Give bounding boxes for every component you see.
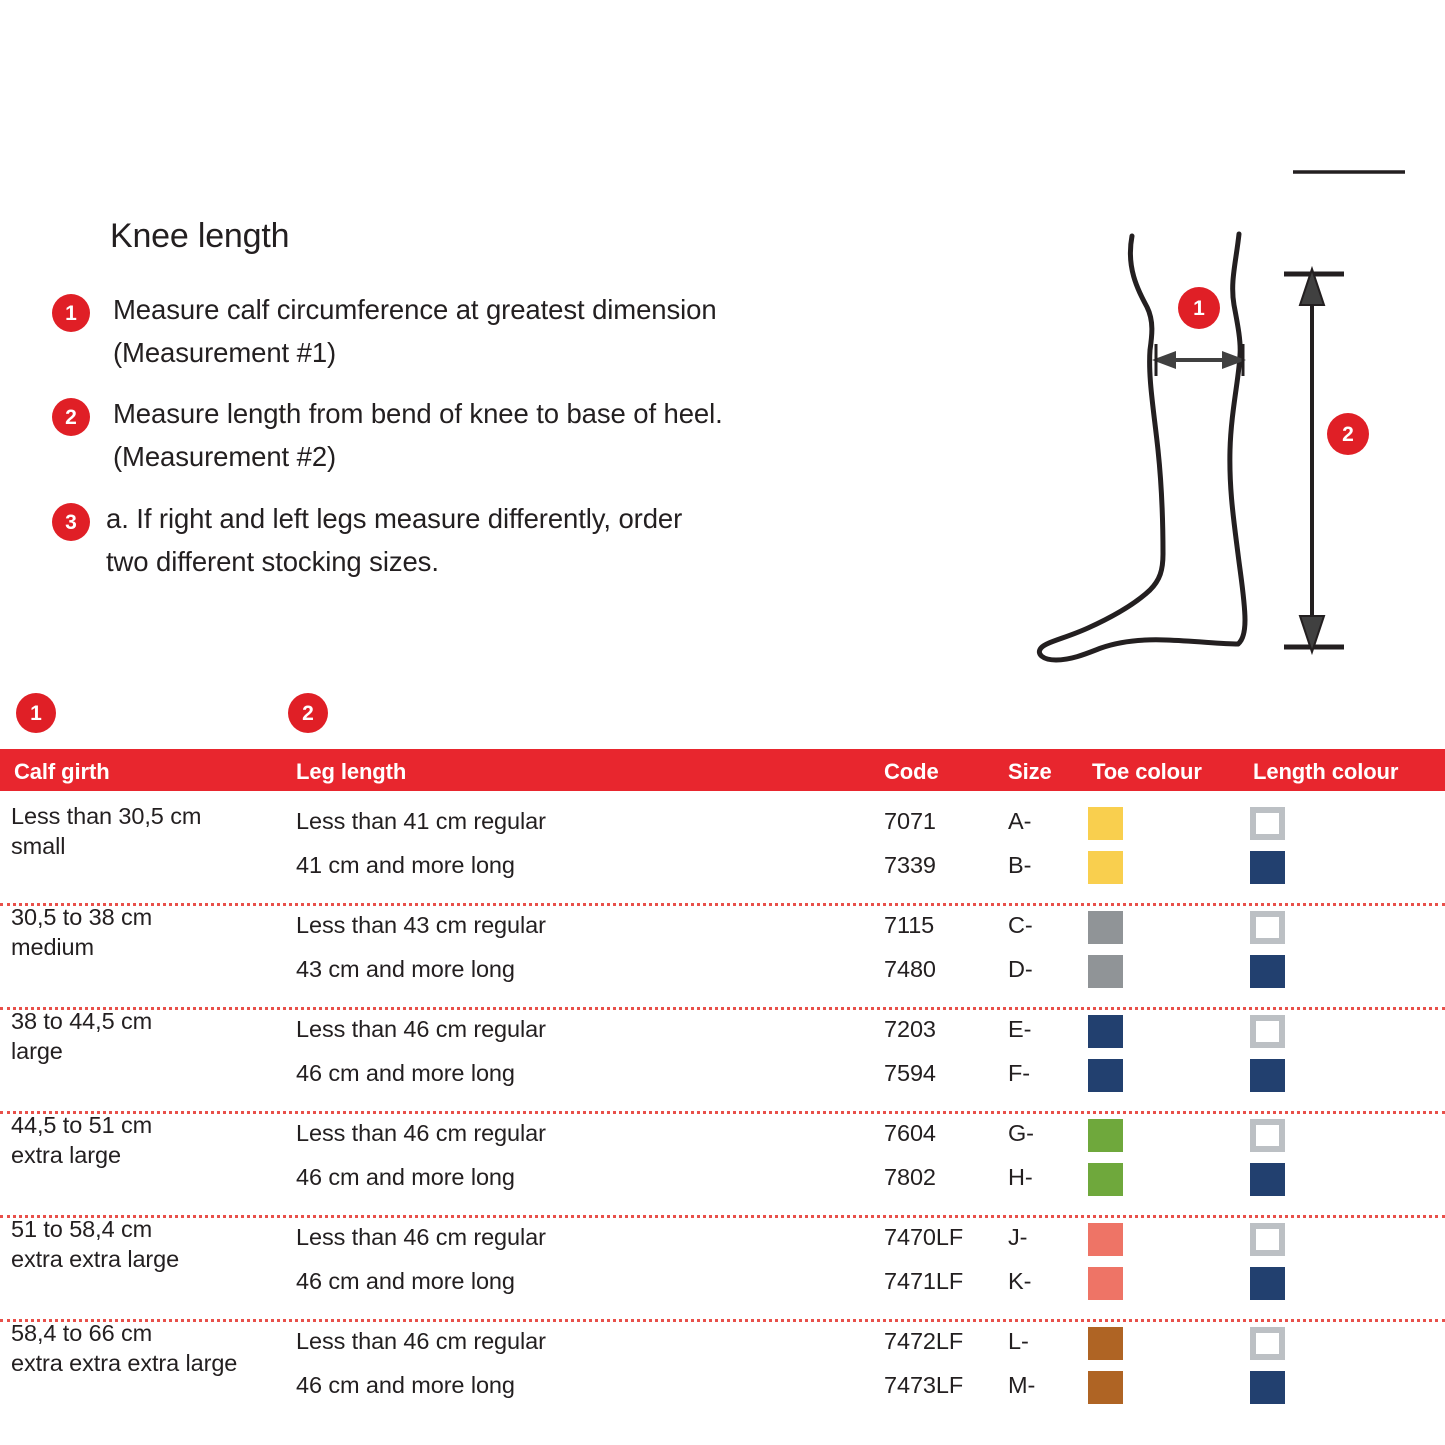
- table-group: 44,5 to 51 cm extra largeLess than 46 cm…: [0, 1100, 1445, 1204]
- column-header-leg-length: Leg length: [296, 759, 406, 785]
- cell-code: 7802: [884, 1164, 936, 1191]
- cell-leg-length: 46 cm and more long: [296, 1372, 515, 1399]
- cell-code: 7472LF: [884, 1328, 963, 1355]
- step-number-badge-2: 2: [52, 398, 90, 436]
- column-callout-badge-leg-length: 2: [288, 693, 328, 733]
- toe-colour-swatch-brown: [1088, 1327, 1123, 1360]
- toe-colour-swatch-green: [1088, 1163, 1123, 1196]
- cell-code: 7473LF: [884, 1372, 963, 1399]
- cell-size: K-: [1008, 1268, 1031, 1295]
- sizing-table: Calf girth Leg length Code Size Toe colo…: [0, 749, 1445, 1412]
- table-row: 43 cm and more long7480D-: [0, 947, 1445, 991]
- cell-leg-length: Less than 43 cm regular: [296, 912, 546, 939]
- cell-leg-length: 46 cm and more long: [296, 1164, 515, 1191]
- cell-code: 7339: [884, 852, 936, 879]
- cell-code: 7203: [884, 1016, 936, 1043]
- cell-leg-length: Less than 46 cm regular: [296, 1328, 546, 1355]
- leg-illustration-icon: [1000, 150, 1445, 670]
- toe-colour-swatch-salmon: [1088, 1267, 1123, 1300]
- table-group: 38 to 44,5 cm largeLess than 46 cm regul…: [0, 996, 1445, 1100]
- length-colour-swatch-white: [1250, 1223, 1285, 1256]
- toe-colour-swatch-salmon: [1088, 1223, 1123, 1256]
- cell-code: 7071: [884, 808, 936, 835]
- table-row: 46 cm and more long7594F-: [0, 1051, 1445, 1095]
- cell-size: J-: [1008, 1224, 1027, 1251]
- table-row: Less than 41 cm regular7071A-: [0, 799, 1445, 843]
- toe-colour-swatch-navy: [1088, 1059, 1123, 1092]
- cell-size: L-: [1008, 1328, 1029, 1355]
- length-colour-swatch-white: [1250, 1015, 1285, 1048]
- cell-leg-length: 41 cm and more long: [296, 852, 515, 879]
- cell-size: F-: [1008, 1060, 1030, 1087]
- column-header-calf-girth: Calf girth: [14, 759, 110, 785]
- table-row: Less than 46 cm regular7470LFJ-: [0, 1215, 1445, 1259]
- cell-leg-length: Less than 46 cm regular: [296, 1120, 546, 1147]
- table-group: Less than 30,5 cm smallLess than 41 cm r…: [0, 791, 1445, 892]
- cell-size: C-: [1008, 912, 1033, 939]
- length-colour-swatch-navy: [1250, 955, 1285, 988]
- cell-code: 7604: [884, 1120, 936, 1147]
- cell-code: 7480: [884, 956, 936, 983]
- cell-leg-length: 43 cm and more long: [296, 956, 515, 983]
- cell-leg-length: 46 cm and more long: [296, 1060, 515, 1087]
- toe-colour-swatch-navy: [1088, 1015, 1123, 1048]
- step-number-badge-3: 3: [52, 503, 90, 541]
- cell-code: 7594: [884, 1060, 936, 1087]
- cell-leg-length: Less than 46 cm regular: [296, 1016, 546, 1043]
- column-header-length-colour: Length colour: [1253, 759, 1398, 785]
- length-colour-swatch-white: [1250, 1327, 1285, 1360]
- column-header-code: Code: [884, 759, 939, 785]
- toe-colour-swatch-yellow: [1088, 851, 1123, 884]
- toe-colour-swatch-brown: [1088, 1371, 1123, 1404]
- length-colour-swatch-white: [1250, 911, 1285, 944]
- table-group: 30,5 to 38 cm mediumLess than 43 cm regu…: [0, 892, 1445, 996]
- column-header-size: Size: [1008, 759, 1052, 785]
- step-text-2: Measure length from bend of knee to base…: [113, 392, 723, 478]
- length-colour-swatch-navy: [1250, 1371, 1285, 1404]
- page-root: Knee length 1 Measure calf circumference…: [0, 0, 1445, 1445]
- cell-size: E-: [1008, 1016, 1031, 1043]
- cell-code: 7471LF: [884, 1268, 963, 1295]
- table-row: 46 cm and more long7802H-: [0, 1155, 1445, 1199]
- cell-leg-length: Less than 41 cm regular: [296, 808, 546, 835]
- table-row: Less than 46 cm regular7203E-: [0, 1007, 1445, 1051]
- column-callout-badge-calf-girth: 1: [16, 693, 56, 733]
- step-text-1: Measure calf circumference at greatest d…: [113, 288, 717, 374]
- step-number-badge-1: 1: [52, 294, 90, 332]
- length-colour-swatch-navy: [1250, 851, 1285, 884]
- cell-code: 7115: [884, 912, 934, 939]
- cell-size: A-: [1008, 808, 1031, 835]
- table-body: Less than 30,5 cm smallLess than 41 cm r…: [0, 791, 1445, 1412]
- table-group: 58,4 to 66 cm extra extra extra largeLes…: [0, 1308, 1445, 1412]
- cell-size: M-: [1008, 1372, 1035, 1399]
- cell-leg-length: Less than 46 cm regular: [296, 1224, 546, 1251]
- toe-colour-swatch-yellow: [1088, 807, 1123, 840]
- column-header-toe-colour: Toe colour: [1092, 759, 1202, 785]
- table-row: Less than 43 cm regular7115C-: [0, 903, 1445, 947]
- length-colour-swatch-white: [1250, 1119, 1285, 1152]
- toe-colour-swatch-grey: [1088, 911, 1123, 944]
- diagram-badge-leg-length: 2: [1327, 413, 1369, 455]
- cell-leg-length: 46 cm and more long: [296, 1268, 515, 1295]
- table-row: Less than 46 cm regular7604G-: [0, 1111, 1445, 1155]
- toe-colour-swatch-grey: [1088, 955, 1123, 988]
- leg-measurement-diagram: 1 2: [1000, 150, 1445, 670]
- length-colour-swatch-navy: [1250, 1267, 1285, 1300]
- length-colour-swatch-white: [1250, 807, 1285, 840]
- table-header-row: Calf girth Leg length Code Size Toe colo…: [0, 749, 1445, 791]
- table-row: 46 cm and more long7471LFK-: [0, 1259, 1445, 1303]
- cell-code: 7470LF: [884, 1224, 963, 1251]
- cell-size: B-: [1008, 852, 1031, 879]
- table-row: 41 cm and more long7339B-: [0, 843, 1445, 887]
- cell-size: D-: [1008, 956, 1033, 983]
- length-colour-swatch-navy: [1250, 1059, 1285, 1092]
- cell-size: H-: [1008, 1164, 1033, 1191]
- cell-size: G-: [1008, 1120, 1034, 1147]
- length-colour-swatch-navy: [1250, 1163, 1285, 1196]
- table-row: Less than 46 cm regular7472LFL-: [0, 1319, 1445, 1363]
- step-text-3: a. If right and left legs measure differ…: [106, 497, 682, 583]
- table-row: 46 cm and more long7473LFM-: [0, 1363, 1445, 1407]
- toe-colour-swatch-green: [1088, 1119, 1123, 1152]
- page-title: Knee length: [110, 217, 289, 256]
- diagram-badge-calf-girth: 1: [1178, 287, 1220, 329]
- table-group: 51 to 58,4 cm extra extra largeLess than…: [0, 1204, 1445, 1308]
